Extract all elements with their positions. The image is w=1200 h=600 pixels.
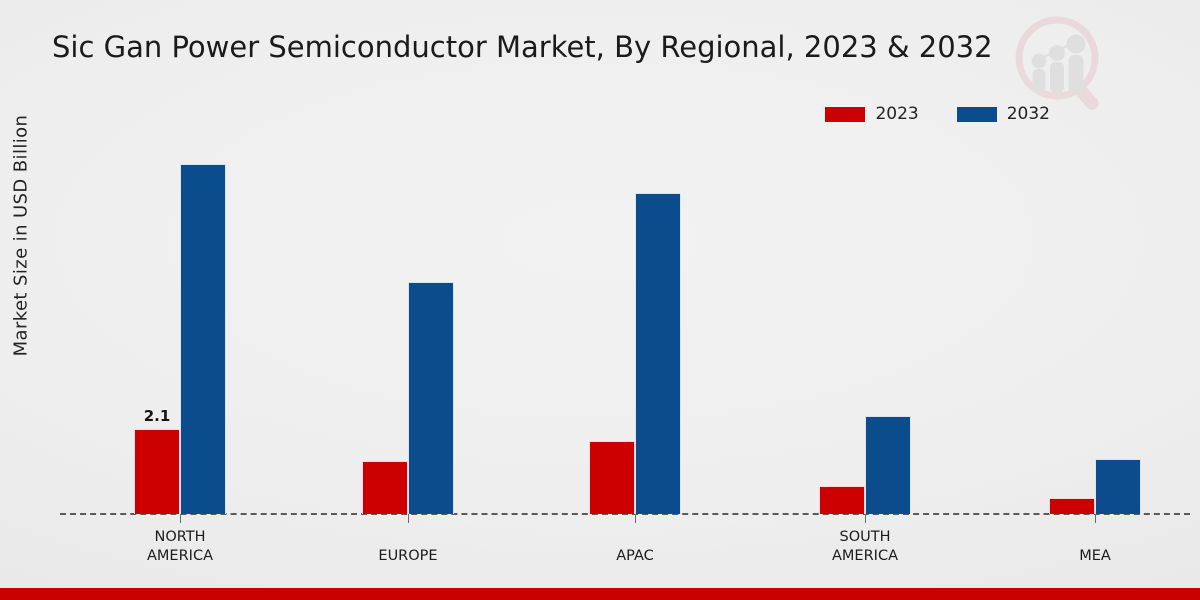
category-label-line-1: EUROPE: [332, 547, 484, 566]
category-label-north-america: NORTH AMERICA: [104, 528, 256, 566]
y-axis-label: Market Size in USD Billion: [11, 76, 32, 396]
bar-group-south-america: SOUTH AMERICA: [819, 140, 911, 514]
bar-south-america-2023[interactable]: [819, 486, 865, 514]
chart-page: Sic Gan Power Semiconductor Market, By R…: [0, 0, 1200, 600]
category-label-apac: APAC: [559, 547, 711, 566]
footer-accent-bar: [0, 588, 1200, 600]
category-label-line-1: NORTH: [104, 528, 256, 547]
legend-item-2023[interactable]: 2023: [825, 104, 918, 124]
legend-item-2032[interactable]: 2032: [957, 104, 1050, 124]
bar-value-north-america-2023: 2.1: [134, 407, 180, 425]
bar-group-europe: EUROPE: [362, 140, 454, 514]
bar-apac-2023[interactable]: [589, 441, 635, 514]
bar-north-america-2023[interactable]: [134, 429, 180, 514]
category-label-europe: EUROPE: [332, 547, 484, 566]
legend-swatch-2023: [825, 107, 865, 122]
tick-europe: [408, 514, 409, 523]
legend-label-2032: 2032: [1007, 104, 1050, 124]
bar-mea-2032[interactable]: [1095, 459, 1141, 514]
bar-group-apac: APAC: [589, 140, 681, 514]
bar-europe-2023[interactable]: [362, 461, 408, 514]
category-label-line-1: SOUTH: [789, 528, 941, 547]
chart-title: Sic Gan Power Semiconductor Market, By R…: [52, 30, 993, 64]
category-label-line-2: AMERICA: [104, 547, 256, 566]
category-label-mea: MEA: [1019, 547, 1171, 566]
bar-apac-2032[interactable]: [635, 193, 681, 514]
category-label-line-2: AMERICA: [789, 547, 941, 566]
category-label-line-1: APAC: [559, 547, 711, 566]
legend-label-2023: 2023: [875, 104, 918, 124]
chart-legend: 2023 2032: [825, 104, 1050, 124]
bar-north-america-2032[interactable]: [180, 164, 226, 514]
category-label-line-1: MEA: [1019, 547, 1171, 566]
watermark-logo-icon: [1005, 8, 1115, 118]
plot-area: 2.1 NORTH AMERICA EUROPE APAC: [60, 140, 1190, 514]
bar-europe-2032[interactable]: [408, 282, 454, 514]
bar-group-mea: MEA: [1049, 140, 1141, 514]
category-label-south-america: SOUTH AMERICA: [789, 528, 941, 566]
bar-south-america-2032[interactable]: [865, 416, 911, 514]
tick-apac: [635, 514, 636, 523]
legend-swatch-2032: [957, 107, 997, 122]
bar-mea-2023[interactable]: [1049, 498, 1095, 514]
tick-south-america: [865, 514, 866, 523]
tick-mea: [1095, 514, 1096, 523]
bar-group-north-america: 2.1 NORTH AMERICA: [134, 140, 226, 514]
tick-north-america: [180, 514, 181, 523]
